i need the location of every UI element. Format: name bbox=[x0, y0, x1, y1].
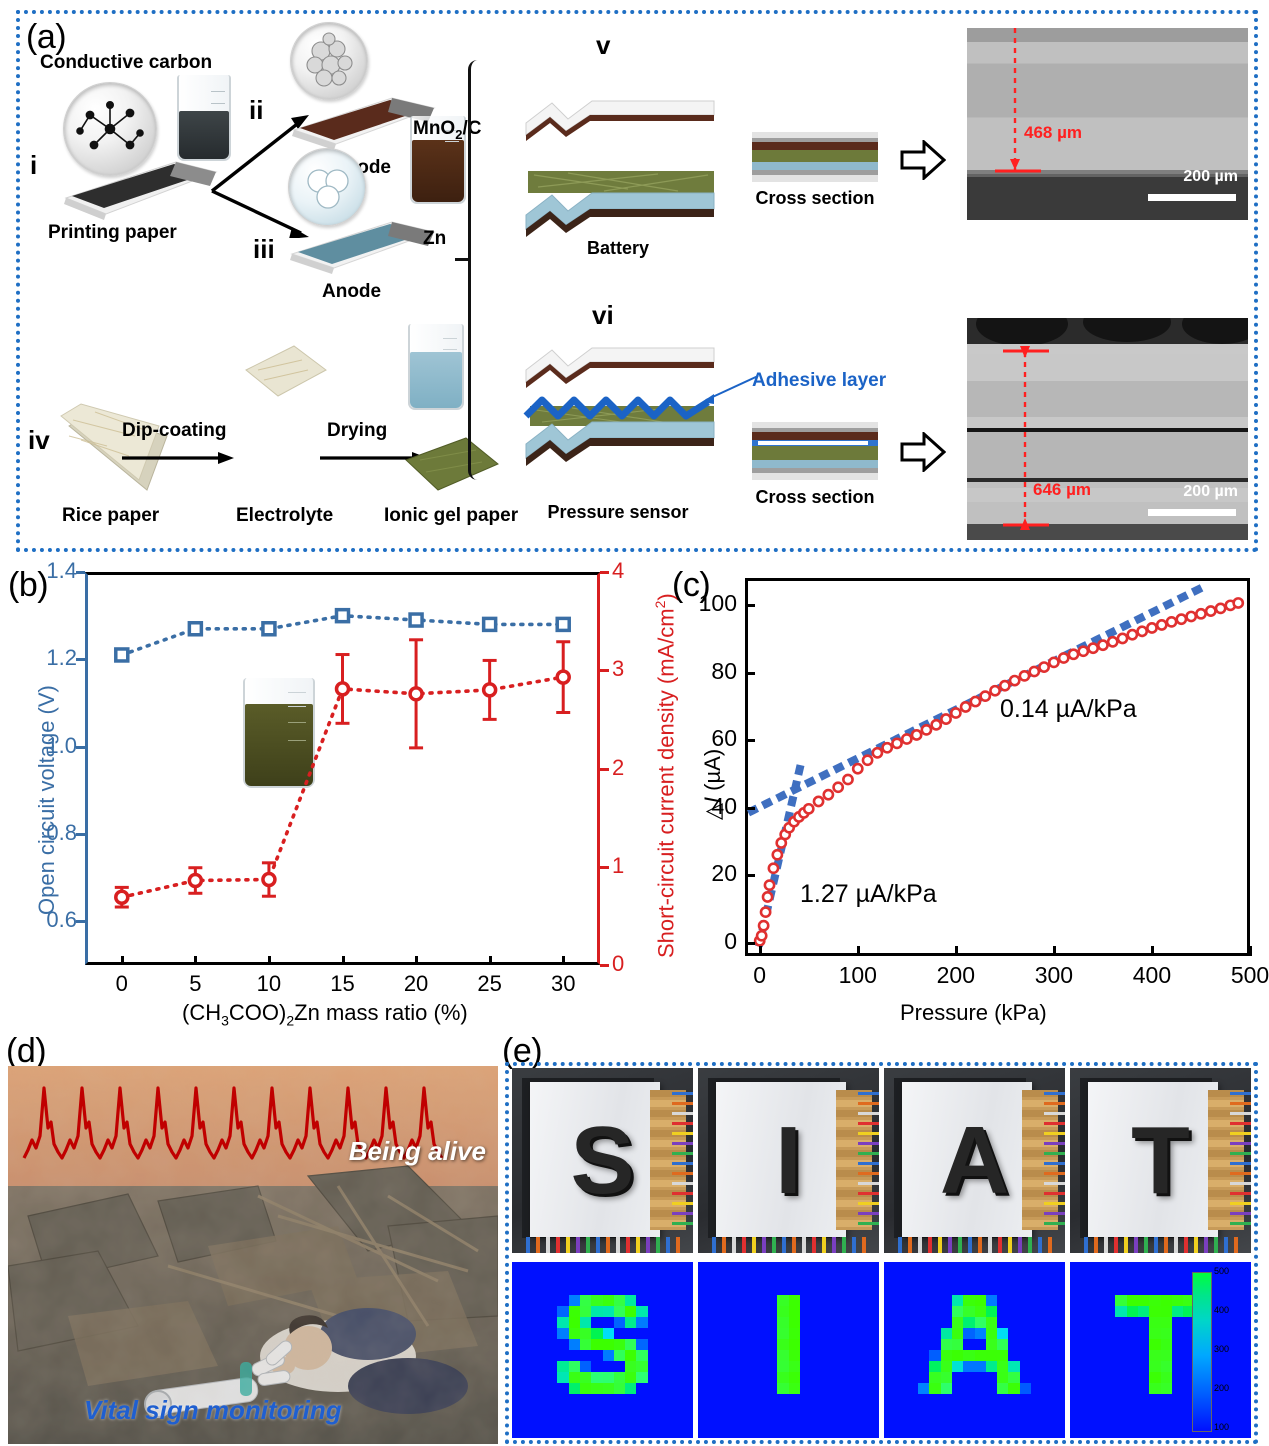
label-adhesive-layer: Adhesive layer bbox=[752, 370, 886, 392]
heatmap-cell bbox=[1138, 1372, 1149, 1383]
heatmap-cell bbox=[603, 1427, 614, 1438]
heatmap-cell bbox=[975, 1416, 986, 1427]
step-iii-numeral: iii bbox=[253, 234, 275, 265]
heatmap-cell bbox=[800, 1339, 811, 1350]
heatmap-cell bbox=[1172, 1273, 1183, 1284]
heatmap-cell bbox=[986, 1317, 997, 1328]
panel-e-heatmap bbox=[884, 1262, 1065, 1438]
heatmap-cell bbox=[822, 1372, 833, 1383]
heatmap-cell bbox=[907, 1405, 918, 1416]
heatmap-cell bbox=[1081, 1328, 1092, 1339]
heatmap-cell bbox=[535, 1372, 546, 1383]
heatmap-cell bbox=[1127, 1328, 1138, 1339]
heatmap-cell bbox=[1104, 1328, 1115, 1339]
heatmap-cell bbox=[834, 1284, 845, 1295]
heatmap-cell bbox=[721, 1295, 732, 1306]
heatmap-cell bbox=[834, 1427, 845, 1438]
panel-e-photo: S bbox=[512, 1068, 693, 1253]
heatmap-cell bbox=[1020, 1262, 1031, 1273]
heatmap-cell bbox=[1070, 1295, 1081, 1306]
heatmap-cell bbox=[557, 1383, 568, 1394]
heatmap-cell bbox=[834, 1405, 845, 1416]
heatmap-cell bbox=[963, 1284, 974, 1295]
heatmap-cell bbox=[1138, 1405, 1149, 1416]
heatmap-cell bbox=[721, 1284, 732, 1295]
heatmap-cell bbox=[884, 1416, 895, 1427]
heatmap-cell bbox=[1054, 1405, 1065, 1416]
heatmap-cell bbox=[1138, 1350, 1149, 1361]
heatmap-cell bbox=[659, 1394, 670, 1405]
heatmap-cell bbox=[822, 1427, 833, 1438]
heatmap-cell bbox=[721, 1416, 732, 1427]
heatmap-cell bbox=[811, 1361, 822, 1372]
heatmap-cell bbox=[591, 1328, 602, 1339]
heatmap-cell bbox=[636, 1339, 647, 1350]
heatmap-cell bbox=[929, 1361, 940, 1372]
heatmap-cell bbox=[1149, 1317, 1160, 1328]
heatmap-cell bbox=[659, 1328, 670, 1339]
heatmap-cell bbox=[523, 1350, 534, 1361]
panel-e-colorbar bbox=[1192, 1272, 1212, 1432]
heatmap-cell bbox=[743, 1361, 754, 1372]
heatmap-cell bbox=[895, 1328, 906, 1339]
heatmap-cell bbox=[975, 1405, 986, 1416]
panel-c-x-tick bbox=[1053, 946, 1056, 956]
heatmap-cell bbox=[755, 1306, 766, 1317]
heatmap-cell bbox=[884, 1339, 895, 1350]
heatmap-cell bbox=[698, 1284, 709, 1295]
heatmap-cell bbox=[997, 1394, 1008, 1405]
heatmap-cell bbox=[648, 1416, 659, 1427]
heatmap-cell bbox=[884, 1295, 895, 1306]
heatmap-cell bbox=[1104, 1273, 1115, 1284]
label-ionic-gel-paper: Ionic gel paper bbox=[384, 505, 518, 527]
heatmap-cell bbox=[523, 1284, 534, 1295]
heatmap-cell bbox=[789, 1416, 800, 1427]
heatmap-cell bbox=[721, 1405, 732, 1416]
heatmap-cell bbox=[895, 1295, 906, 1306]
heatmap-cell bbox=[845, 1317, 856, 1328]
heatmap-cell bbox=[929, 1306, 940, 1317]
heatmap-cell bbox=[1008, 1361, 1019, 1372]
heatmap-cell bbox=[1172, 1372, 1183, 1383]
heatmap-cell bbox=[614, 1328, 625, 1339]
label-cross-section-battery: Cross section bbox=[752, 188, 878, 209]
heatmap-cell bbox=[603, 1372, 614, 1383]
heatmap-cell bbox=[557, 1405, 568, 1416]
heatmap-cell bbox=[670, 1306, 681, 1317]
heatmap-cell bbox=[907, 1427, 918, 1438]
heatmap-cell bbox=[709, 1427, 720, 1438]
heatmap-cell bbox=[1054, 1306, 1065, 1317]
heatmap-cell bbox=[557, 1284, 568, 1295]
heatmap-cell bbox=[732, 1317, 743, 1328]
heatmap-cell bbox=[636, 1273, 647, 1284]
heatmap-cell bbox=[603, 1339, 614, 1350]
heatmap-cell bbox=[1070, 1284, 1081, 1295]
heatmap-cell bbox=[709, 1317, 720, 1328]
heatmap-cell bbox=[907, 1273, 918, 1284]
heatmap-cell bbox=[698, 1295, 709, 1306]
heatmap-cell bbox=[535, 1306, 546, 1317]
heatmap-cell bbox=[557, 1295, 568, 1306]
heatmap-cell bbox=[929, 1295, 940, 1306]
heatmap-cell bbox=[1138, 1306, 1149, 1317]
heatmap-cell bbox=[698, 1416, 709, 1427]
heatmap-cell bbox=[535, 1339, 546, 1350]
heatmap-cell bbox=[1054, 1284, 1065, 1295]
ionic-gel-paper-illustration bbox=[396, 420, 508, 506]
heatmap-cell bbox=[1042, 1372, 1053, 1383]
panel-c-y-tick-label: 0 bbox=[693, 928, 737, 955]
heatmap-cell bbox=[698, 1372, 709, 1383]
heatmap-cell bbox=[523, 1361, 534, 1372]
heatmap-cell bbox=[523, 1295, 534, 1306]
heatmap-cell bbox=[648, 1328, 659, 1339]
heatmap-cell bbox=[975, 1427, 986, 1438]
heatmap-cell bbox=[682, 1416, 693, 1427]
heatmap-cell bbox=[868, 1262, 879, 1273]
heatmap-cell bbox=[1138, 1383, 1149, 1394]
heatmap-cell bbox=[523, 1394, 534, 1405]
heatmap-cell bbox=[952, 1394, 963, 1405]
heatmap-cell bbox=[822, 1306, 833, 1317]
heatmap-cell bbox=[907, 1284, 918, 1295]
heatmap-cell bbox=[512, 1339, 523, 1350]
heatmap-cell bbox=[625, 1394, 636, 1405]
heatmap-cell bbox=[986, 1273, 997, 1284]
panel-c-x-tick bbox=[955, 946, 958, 956]
heatmap-cell bbox=[963, 1416, 974, 1427]
heatmap-cell bbox=[682, 1427, 693, 1438]
heatmap-cell bbox=[777, 1350, 788, 1361]
heatmap-cell bbox=[907, 1339, 918, 1350]
panel-c-x-tick bbox=[1249, 946, 1252, 956]
heatmap-cell bbox=[1172, 1306, 1183, 1317]
heatmap-cell bbox=[975, 1262, 986, 1273]
heatmap-cell bbox=[721, 1383, 732, 1394]
heatmap-cell bbox=[709, 1262, 720, 1273]
label-printing-paper: Printing paper bbox=[48, 222, 177, 244]
heatmap-cell bbox=[1042, 1328, 1053, 1339]
heatmap-cell bbox=[856, 1394, 867, 1405]
battery-block-arrow-icon bbox=[900, 140, 946, 180]
heatmap-cell bbox=[777, 1262, 788, 1273]
heatmap-cell bbox=[682, 1295, 693, 1306]
heatmap-cell bbox=[546, 1405, 557, 1416]
heatmap-cell bbox=[845, 1372, 856, 1383]
heatmap-cell bbox=[963, 1405, 974, 1416]
heatmap-cell bbox=[659, 1295, 670, 1306]
heatmap-cell bbox=[603, 1317, 614, 1328]
heatmap-cell bbox=[1042, 1284, 1053, 1295]
heatmap-cell bbox=[535, 1383, 546, 1394]
heatmap-cell bbox=[546, 1361, 557, 1372]
heatmap-cell bbox=[670, 1394, 681, 1405]
heatmap-cell bbox=[1031, 1273, 1042, 1284]
heatmap-cell bbox=[1020, 1350, 1031, 1361]
heatmap-cell bbox=[929, 1350, 940, 1361]
heatmap-cell bbox=[1127, 1383, 1138, 1394]
heatmap-cell bbox=[1020, 1328, 1031, 1339]
heatmap-cell bbox=[1161, 1273, 1172, 1284]
heatmap-cell bbox=[1081, 1405, 1092, 1416]
heatmap-cell bbox=[1127, 1317, 1138, 1328]
heatmap-cell bbox=[1115, 1350, 1126, 1361]
heatmap-cell bbox=[1149, 1339, 1160, 1350]
heatmap-cell bbox=[569, 1416, 580, 1427]
heatmap-cell bbox=[868, 1394, 879, 1405]
heatmap-cell bbox=[986, 1383, 997, 1394]
heatmap-cell bbox=[670, 1427, 681, 1438]
heatmap-cell bbox=[1149, 1427, 1160, 1438]
panel-b-y1-tick-label: 1.2 bbox=[25, 645, 77, 671]
heatmap-cell bbox=[845, 1350, 856, 1361]
heatmap-cell bbox=[1093, 1317, 1104, 1328]
panel-c-y-tick-label: 20 bbox=[693, 860, 737, 887]
heatmap-cell bbox=[800, 1306, 811, 1317]
heatmap-cell bbox=[625, 1372, 636, 1383]
heatmap-cell bbox=[941, 1361, 952, 1372]
heatmap-cell bbox=[766, 1306, 777, 1317]
heatmap-cell bbox=[1149, 1361, 1160, 1372]
panel-b-x-tick bbox=[489, 956, 492, 965]
heatmap-cell bbox=[743, 1328, 754, 1339]
heatmap-cell bbox=[614, 1361, 625, 1372]
heatmap-cell bbox=[986, 1427, 997, 1438]
heatmap-cell bbox=[580, 1306, 591, 1317]
heatmap-cell bbox=[789, 1306, 800, 1317]
printing-paper-illustration bbox=[58, 140, 218, 230]
heatmap-cell bbox=[1008, 1273, 1019, 1284]
heatmap-cell bbox=[709, 1405, 720, 1416]
heatmap-cell bbox=[997, 1383, 1008, 1394]
heatmap-cell bbox=[907, 1361, 918, 1372]
heatmap-cell bbox=[546, 1350, 557, 1361]
heatmap-cell bbox=[952, 1350, 963, 1361]
heatmap-cell bbox=[789, 1295, 800, 1306]
panel-b-y2-title: Short-circuit current density (mA/cm2) bbox=[652, 593, 679, 958]
heatmap-cell bbox=[1070, 1416, 1081, 1427]
heatmap-cell bbox=[789, 1273, 800, 1284]
label-rice-paper: Rice paper bbox=[62, 505, 159, 527]
heatmap-cell bbox=[845, 1427, 856, 1438]
panel-c-y-tick bbox=[745, 672, 755, 675]
heatmap-cell bbox=[822, 1405, 833, 1416]
heatmap-cell bbox=[1172, 1405, 1183, 1416]
heatmap-cell bbox=[557, 1328, 568, 1339]
heatmap-cell bbox=[918, 1361, 929, 1372]
heatmap-cell bbox=[1104, 1394, 1115, 1405]
heatmap-cell bbox=[614, 1262, 625, 1273]
heatmap-cell bbox=[721, 1372, 732, 1383]
heatmap-cell bbox=[895, 1273, 906, 1284]
heatmap-cell bbox=[868, 1350, 879, 1361]
heatmap-cell bbox=[625, 1328, 636, 1339]
label-battery: Battery bbox=[548, 238, 688, 259]
heatmap-cell bbox=[535, 1262, 546, 1273]
heatmap-cell bbox=[929, 1383, 940, 1394]
dip-coating-arrow bbox=[122, 448, 240, 468]
heatmap-cell bbox=[732, 1372, 743, 1383]
heatmap-cell bbox=[755, 1383, 766, 1394]
heatmap-cell bbox=[918, 1306, 929, 1317]
heatmap-cell bbox=[603, 1361, 614, 1372]
heatmap-cell bbox=[1008, 1284, 1019, 1295]
heatmap-cell bbox=[557, 1372, 568, 1383]
label-anode: Anode bbox=[322, 281, 381, 303]
heatmap-cell bbox=[975, 1295, 986, 1306]
heatmap-cell bbox=[800, 1295, 811, 1306]
heatmap-cell bbox=[1127, 1306, 1138, 1317]
heatmap-cell bbox=[1042, 1262, 1053, 1273]
heatmap-cell bbox=[1093, 1372, 1104, 1383]
heatmap-cell bbox=[1020, 1284, 1031, 1295]
step-vi-numeral: vi bbox=[592, 300, 614, 331]
heatmap-cell bbox=[811, 1284, 822, 1295]
heatmap-cell bbox=[682, 1372, 693, 1383]
heatmap-cell bbox=[941, 1317, 952, 1328]
heatmap-cell bbox=[569, 1306, 580, 1317]
heatmap-cell bbox=[670, 1416, 681, 1427]
panel-b-x-title-mid: COO) bbox=[229, 1000, 286, 1025]
heatmap-cell bbox=[682, 1394, 693, 1405]
heatmap-cell bbox=[636, 1262, 647, 1273]
heatmap-cell bbox=[907, 1317, 918, 1328]
heatmap-cell bbox=[845, 1383, 856, 1394]
heatmap-cell bbox=[907, 1350, 918, 1361]
heatmap-cell bbox=[523, 1262, 534, 1273]
heatmap-cell bbox=[1020, 1317, 1031, 1328]
heatmap-cell bbox=[743, 1427, 754, 1438]
heatmap-cell bbox=[1172, 1361, 1183, 1372]
panel-c-y-tick bbox=[745, 807, 755, 810]
pressure-sensor-exploded-view bbox=[508, 340, 728, 486]
heatmap-cell bbox=[789, 1339, 800, 1350]
heatmap-cell bbox=[918, 1372, 929, 1383]
heatmap-cell bbox=[918, 1262, 929, 1273]
panel-b-x-title-pre: (CH bbox=[182, 1000, 221, 1025]
panel-b-x-tick bbox=[268, 956, 271, 965]
heatmap-cell bbox=[884, 1328, 895, 1339]
heatmap-cell bbox=[743, 1394, 754, 1405]
panel-c-y-tick bbox=[745, 739, 755, 742]
heatmap-cell bbox=[743, 1295, 754, 1306]
heatmap-cell bbox=[523, 1317, 534, 1328]
heatmap-cell bbox=[1161, 1328, 1172, 1339]
heatmap-cell bbox=[963, 1328, 974, 1339]
heatmap-cell bbox=[1008, 1328, 1019, 1339]
panel-e-photo-row: SIAT bbox=[512, 1068, 1252, 1253]
heatmap-cell bbox=[1161, 1350, 1172, 1361]
heatmap-cell bbox=[743, 1405, 754, 1416]
heatmap-cell bbox=[884, 1427, 895, 1438]
heatmap-cell bbox=[709, 1328, 720, 1339]
heatmap-cell bbox=[1081, 1361, 1092, 1372]
heatmap-cell bbox=[1031, 1317, 1042, 1328]
panel-c-annotation-high: 0.14 µA/kPa bbox=[1000, 695, 1137, 724]
panel-e-photo: I bbox=[698, 1068, 879, 1253]
panel-b-x-tick bbox=[194, 956, 197, 965]
heatmap-cell bbox=[1161, 1405, 1172, 1416]
heatmap-cell bbox=[755, 1328, 766, 1339]
heatmap-cell bbox=[777, 1361, 788, 1372]
heatmap-cell bbox=[603, 1284, 614, 1295]
heatmap-cell bbox=[580, 1350, 591, 1361]
heatmap-cell bbox=[963, 1273, 974, 1284]
heatmap-cell bbox=[698, 1350, 709, 1361]
heatmap-cell bbox=[975, 1306, 986, 1317]
heatmap-cell bbox=[569, 1295, 580, 1306]
heatmap-cell bbox=[777, 1405, 788, 1416]
heatmap-cell bbox=[546, 1394, 557, 1405]
heatmap-cell bbox=[1161, 1416, 1172, 1427]
heatmap-cell bbox=[512, 1273, 523, 1284]
heatmap-cell bbox=[1138, 1262, 1149, 1273]
heatmap-cell bbox=[1161, 1317, 1172, 1328]
heatmap-cell bbox=[569, 1383, 580, 1394]
heatmap-cell bbox=[755, 1284, 766, 1295]
heatmap-cell bbox=[755, 1394, 766, 1405]
heatmap-cell bbox=[636, 1328, 647, 1339]
heatmap-cell bbox=[535, 1328, 546, 1339]
heatmap-cell bbox=[975, 1339, 986, 1350]
heatmap-cell bbox=[884, 1383, 895, 1394]
heatmap-cell bbox=[546, 1427, 557, 1438]
heatmap-cell bbox=[975, 1361, 986, 1372]
heatmap-cell bbox=[1115, 1405, 1126, 1416]
heatmap-cell bbox=[682, 1383, 693, 1394]
heatmap-cell bbox=[698, 1306, 709, 1317]
heatmap-cell bbox=[845, 1306, 856, 1317]
heatmap-cell bbox=[682, 1361, 693, 1372]
step-iv-numeral: iv bbox=[28, 425, 50, 456]
panel-b-y1-tick bbox=[76, 833, 85, 836]
heatmap-cell bbox=[1115, 1427, 1126, 1438]
heatmap-cell bbox=[591, 1383, 602, 1394]
panel-b-y1-tick-label: 0.6 bbox=[25, 907, 77, 933]
heatmap-cell bbox=[1161, 1394, 1172, 1405]
heatmap-cell bbox=[1054, 1328, 1065, 1339]
heatmap-cell bbox=[766, 1405, 777, 1416]
heatmap-cell bbox=[868, 1284, 879, 1295]
heatmap-cell bbox=[614, 1339, 625, 1350]
heatmap-cell bbox=[512, 1372, 523, 1383]
heatmap-cell bbox=[721, 1273, 732, 1284]
heatmap-cell bbox=[546, 1317, 557, 1328]
heatmap-cell bbox=[535, 1416, 546, 1427]
heatmap-cell bbox=[682, 1328, 693, 1339]
panel-c-y-tick-label: 100 bbox=[693, 590, 737, 617]
heatmap-cell bbox=[856, 1284, 867, 1295]
heatmap-cell bbox=[523, 1339, 534, 1350]
heatmap-cell bbox=[777, 1295, 788, 1306]
wet-rice-paper-illustration bbox=[230, 330, 338, 408]
panel-b-y1-tick-label: 1.0 bbox=[25, 733, 77, 759]
heatmap-cell bbox=[523, 1328, 534, 1339]
heatmap-cell bbox=[856, 1372, 867, 1383]
panel-e-colorbar-tick-label: 300 bbox=[1214, 1344, 1229, 1354]
heatmap-cell bbox=[755, 1339, 766, 1350]
heatmap-cell bbox=[845, 1284, 856, 1295]
heatmap-cell bbox=[580, 1394, 591, 1405]
heatmap-cell bbox=[755, 1361, 766, 1372]
heatmap-cell bbox=[636, 1405, 647, 1416]
heatmap-cell bbox=[1042, 1394, 1053, 1405]
heatmap-cell bbox=[907, 1372, 918, 1383]
heatmap-cell bbox=[856, 1361, 867, 1372]
panel-b-x-tick-label: 20 bbox=[390, 971, 442, 997]
